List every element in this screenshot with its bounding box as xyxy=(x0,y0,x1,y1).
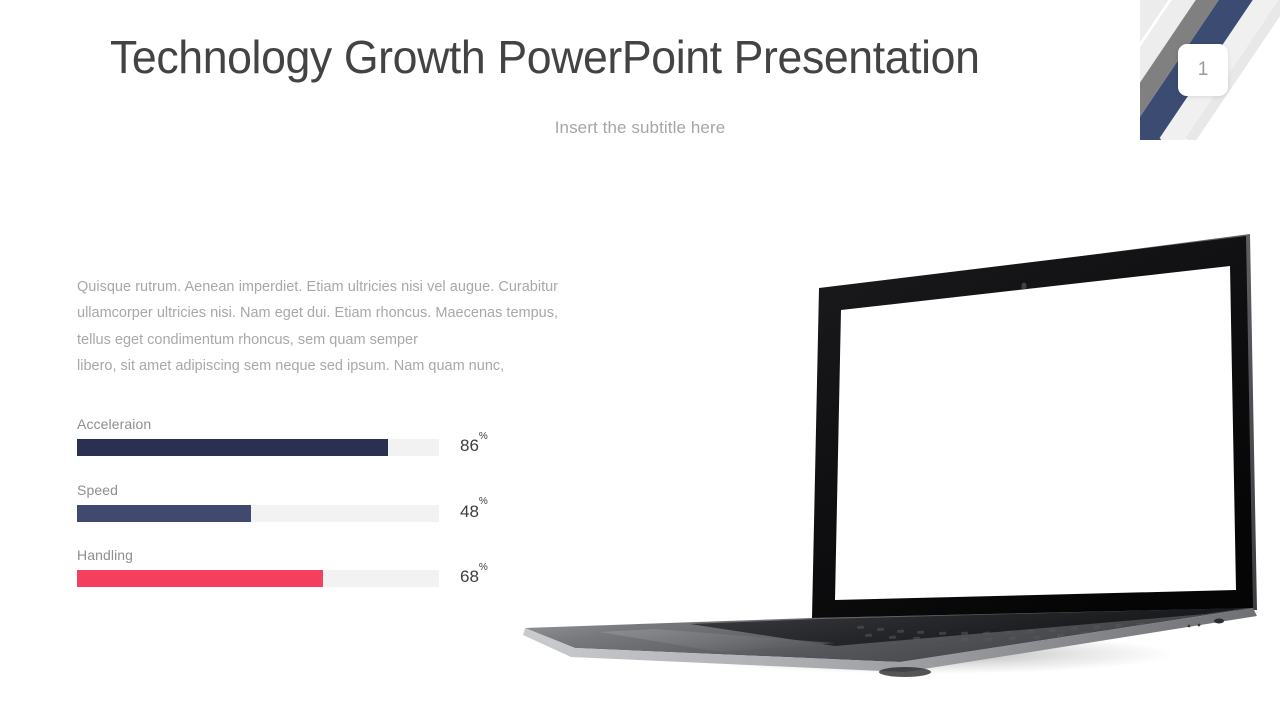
stat-bar-fill xyxy=(77,505,251,522)
stat-item-acceleraion: Acceleraion 86% xyxy=(77,416,497,482)
laptop-screen xyxy=(835,266,1236,600)
stat-item-handling: Handling 68% xyxy=(77,547,497,613)
page-subtitle: Insert the subtitle here xyxy=(0,118,1280,138)
laptop-camera-icon xyxy=(1021,283,1026,290)
presentation-slide: Technology Growth PowerPoint Presentatio… xyxy=(0,0,1280,720)
stat-value-unit: % xyxy=(479,562,488,573)
stat-value-unit: % xyxy=(479,431,488,442)
body-paragraph-tail: libero, sit amet adipiscing sem neque se… xyxy=(77,353,558,379)
page-number-badge: 1 xyxy=(1178,44,1228,96)
stat-bar-fill xyxy=(77,439,388,456)
page-title: Technology Growth PowerPoint Presentatio… xyxy=(110,30,980,84)
stat-label: Speed xyxy=(77,482,497,498)
stat-value-number: 48 xyxy=(460,502,479,521)
stat-bar-row: 48% xyxy=(77,505,497,523)
stat-bar-track xyxy=(77,570,439,587)
stat-value: 86% xyxy=(460,436,488,456)
stat-bar-row: 86% xyxy=(77,439,497,457)
stat-bar-track xyxy=(77,505,439,522)
stat-bar-chart: Acceleraion 86% Speed 48% Handling xyxy=(77,416,497,613)
stat-value-number: 86 xyxy=(460,436,479,455)
stat-bar-row: 68% xyxy=(77,570,497,588)
stat-value-unit: % xyxy=(479,496,488,507)
stat-label: Handling xyxy=(77,547,497,563)
body-paragraph-main: Quisque rutrum. Aenean imperdiet. Etiam … xyxy=(77,279,558,348)
laptop-indicator-icon xyxy=(1188,625,1191,628)
stat-item-speed: Speed 48% xyxy=(77,482,497,548)
laptop-port-icon xyxy=(1214,619,1224,624)
laptop-foot xyxy=(879,667,931,677)
stat-value: 68% xyxy=(460,567,488,587)
stat-value: 48% xyxy=(460,502,488,522)
body-paragraph: Quisque rutrum. Aenean imperdiet. Etiam … xyxy=(77,274,558,380)
stat-label: Acceleraion xyxy=(77,416,497,432)
stat-bar-fill xyxy=(77,570,323,587)
stat-value-number: 68 xyxy=(460,567,479,586)
laptop-indicator-icon-2 xyxy=(1198,624,1201,627)
stat-bar-track xyxy=(77,439,439,456)
laptop-mockup xyxy=(505,222,1265,684)
